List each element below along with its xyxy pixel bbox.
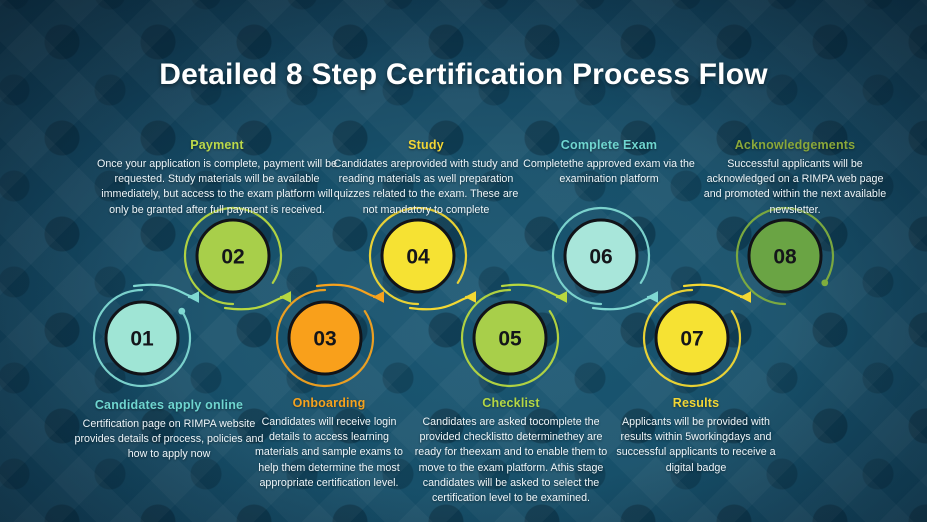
step-body-06: Completethe approved exam via the examin… [518,157,700,187]
step-number-08: 08 [773,246,797,269]
step-text-block-05: ChecklistCandidates are asked tocomplete… [414,396,608,506]
step-text-block-07: ResultsApplicants will be provided with … [608,396,784,476]
step-group-04[interactable]: 04 [370,208,466,304]
connector-05-to-06 [502,285,564,297]
step-body-07: Applicants will be provided with results… [608,415,784,476]
step-group-03[interactable]: 03 [277,290,373,386]
step-heading-05: Checklist [414,396,608,410]
step-heading-03: Onboarding [248,396,410,410]
step-group-08[interactable]: 08 [737,208,833,304]
infographic-canvas: Detailed 8 Step Certification Process Fl… [0,0,927,522]
step-body-05: Candidates are asked tocomplete the prov… [414,415,608,506]
step-heading-06: Complete Exam [518,138,700,152]
step-number-04: 04 [406,246,430,269]
connector-06-to-07 [593,297,655,309]
step-text-block-08: AcknowledgementsSuccessful applicants wi… [700,138,890,218]
step-number-05: 05 [498,328,522,351]
step-number-02: 02 [221,246,244,269]
step-group-05[interactable]: 05 [462,290,558,386]
step-number-07: 07 [680,328,703,351]
step-heading-08: Acknowledgements [700,138,890,152]
step-heading-07: Results [608,396,784,410]
step-ring-terminator-01 [178,308,185,315]
step-group-06[interactable]: 06 [553,208,649,304]
step-ring-terminator-08 [821,279,828,286]
step-heading-04: Study [330,138,522,152]
step-body-03: Candidates will receive login details to… [248,415,410,491]
connector-04-to-05 [410,297,472,309]
step-number-01: 01 [130,328,154,351]
step-number-03: 03 [313,328,336,351]
step-body-01: Certification page on RIMPA website prov… [66,417,272,463]
step-body-08: Successful applicants will be acknowledg… [700,157,890,218]
step-body-02: Once your application is complete, payme… [92,157,342,218]
step-text-block-01: Candidates apply onlineCertification pag… [66,398,272,463]
step-group-01[interactable]: 01 [94,290,190,386]
step-text-block-02: PaymentOnce your application is complete… [92,138,342,218]
step-heading-01: Candidates apply online [66,398,272,412]
step-text-block-06: Complete ExamCompletethe approved exam v… [518,138,700,187]
step-group-07[interactable]: 07 [644,290,740,386]
connector-02-to-03 [225,297,287,309]
connector-03-to-04 [317,285,379,297]
step-body-04: Candidates areprovided with study and re… [330,157,522,218]
step-group-02[interactable]: 02 [185,208,281,304]
step-text-block-03: OnboardingCandidates will receive login … [248,396,410,491]
connector-01-to-02 [134,285,196,297]
step-text-block-04: StudyCandidates areprovided with study a… [330,138,522,218]
step-number-06: 06 [589,246,612,269]
connector-07-to-08 [684,285,746,297]
step-heading-02: Payment [92,138,342,152]
